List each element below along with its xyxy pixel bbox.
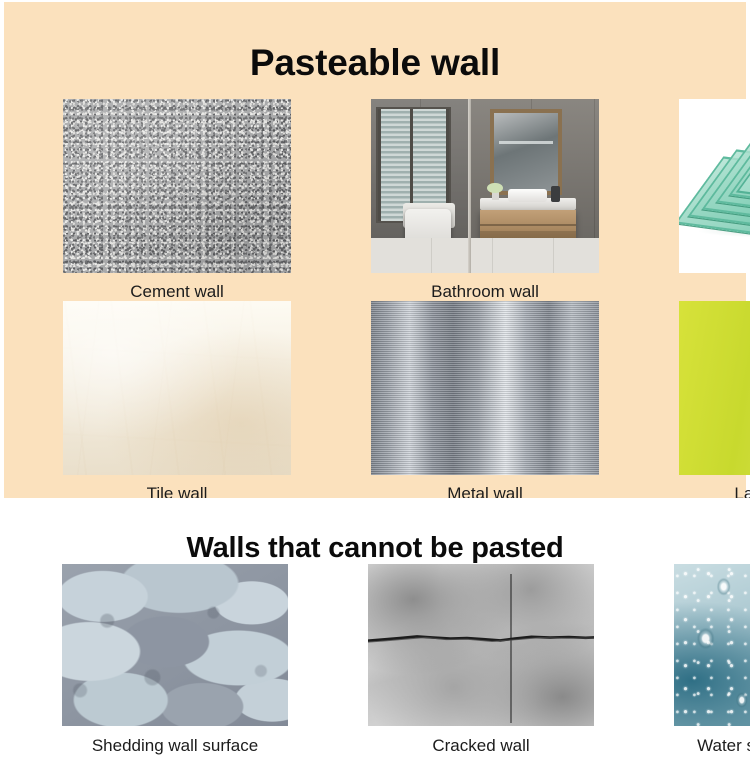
pasteable-wall-section: Pasteable wall Cement wall — [4, 2, 746, 498]
bathroom-plant — [487, 183, 503, 200]
bathroom-glass-partition — [468, 99, 472, 273]
bathroom-mirror — [494, 113, 558, 191]
wall-seam-line — [510, 574, 512, 723]
cannot-paste-item-shedding-wall: Shedding wall surface — [62, 564, 288, 756]
cannot-paste-item-water-stain-wall: Water stain wall surface — [674, 564, 750, 756]
cannot-paste-item-cracked-wall: Cracked wall — [368, 564, 594, 756]
cannot-paste-item-caption: Shedding wall surface — [62, 726, 288, 756]
shedding-wall-photo — [62, 564, 288, 726]
cement-wall-photo — [63, 99, 291, 273]
bathroom-wall-photo — [371, 99, 599, 273]
pasteable-row-1: Cement wall Bathroom wall — [4, 83, 746, 318]
cannot-paste-item-caption: Cracked wall — [368, 726, 594, 756]
cannot-paste-section: Walls that cannot be pasted Shedding wal… — [0, 498, 750, 750]
painted-green-area — [679, 301, 750, 475]
bathroom-floor — [371, 238, 599, 273]
bathroom-bottle — [551, 186, 560, 202]
water-stain-wall-photo — [674, 564, 750, 726]
pasteable-item-tile-wall: Tile wall — [63, 301, 291, 504]
pasteable-item-cement-wall: Cement wall — [63, 99, 291, 302]
pasteable-section-title: Pasteable wall — [4, 41, 746, 85]
bathroom-vanity-cabinet — [480, 210, 576, 238]
bathroom-mirror-reflection — [499, 141, 554, 144]
pasteable-item-latex-paint-wall: Latex paint wall — [679, 301, 750, 504]
pasteable-item-glass-wall: Glass wall — [679, 99, 750, 302]
crack-line — [368, 634, 594, 644]
metal-wall-photo — [371, 301, 599, 475]
pasteable-item-metal-wall: Metal wall — [371, 301, 599, 504]
cracked-wall-photo — [368, 564, 594, 726]
pasteable-item-bathroom-wall: Bathroom wall — [371, 99, 599, 302]
bathroom-sink-basin — [508, 189, 547, 201]
cannot-paste-item-caption: Water stain wall surface — [674, 726, 750, 756]
cannot-paste-row: Shedding wall surface Cracked wall Water… — [0, 548, 750, 772]
latex-paint-wall-photo — [679, 301, 750, 475]
glass-wall-photo — [679, 99, 750, 273]
pasteable-row-2: Tile wall Metal wall Latex paint wall — [4, 285, 746, 520]
tile-wall-photo — [63, 301, 291, 475]
